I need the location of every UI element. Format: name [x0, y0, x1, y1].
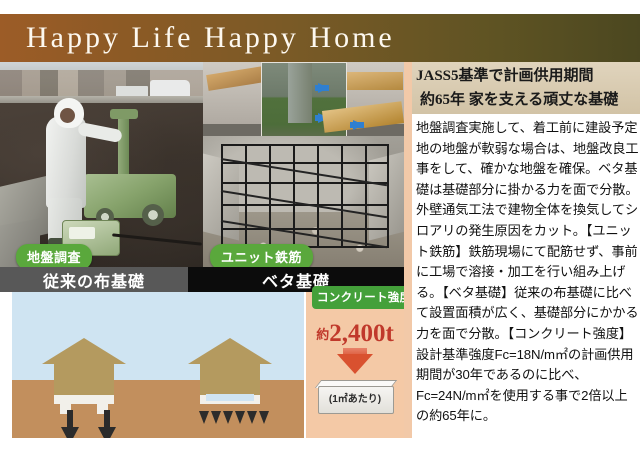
down-arrow-icon: [337, 354, 373, 374]
flyer-page: Happy Life Happy Home: [0, 0, 640, 452]
photo-row: 地盤調査 ユニット鉄筋: [0, 62, 404, 267]
concrete-strength-box: コンクリート強度 約2,400t (1㎡あたり): [306, 292, 404, 438]
value-prefix: 約: [316, 327, 329, 342]
concrete-slab-note: (1㎡あたり): [306, 390, 404, 405]
house-body: [54, 362, 114, 396]
ground-survey-photo: [0, 62, 203, 267]
pile-tip-icon: [199, 411, 209, 424]
rebar-cage: [221, 144, 389, 248]
mat-slab-void: [206, 394, 254, 401]
pile-stem: [104, 410, 110, 428]
visual-column: 地盤調査 ユニット鉄筋 従来の布基礎 ベタ基礎: [0, 62, 404, 438]
house-roof: [42, 338, 126, 364]
description-text: 地盤調査実施して、着工前に建設予定地の地盤が軟弱な場合は、地盤改良工事をして、確…: [416, 118, 640, 427]
pile-tip-icon: [235, 411, 245, 424]
house-roof: [188, 338, 272, 364]
description-heading: JASS5基準で計画供用期間 約65年 家を支える頑丈な基礎: [412, 62, 640, 114]
airflow-arrow-icon: [318, 83, 329, 93]
pile-tip-icon: [211, 411, 221, 424]
foundation-comparison-diagram: [12, 292, 304, 438]
house-body: [200, 362, 260, 396]
heading-line-2: 約65年 家を支える頑丈な基礎: [416, 88, 640, 112]
pile-tip-icon: [259, 411, 269, 424]
heading-line-1: JASS5基準で計画供用期間: [416, 64, 640, 88]
comparison-label-conventional: 従来の布基礎: [0, 267, 188, 292]
survey-rig-wheel: [142, 204, 164, 226]
unit-rebar-photo: [203, 62, 404, 267]
pile-tip-icon: [223, 411, 233, 424]
concrete-strength-label: コンクリート強度: [312, 286, 416, 309]
value-number: 2,400t: [329, 320, 394, 347]
pile-tip-icon: [247, 411, 257, 424]
worker-face: [60, 108, 75, 123]
pile-tip-icon: [98, 427, 116, 438]
concrete-strength-value: 約2,400t: [306, 320, 404, 348]
page-title: Happy Life Happy Home: [26, 16, 395, 60]
inset-wall: [288, 63, 312, 123]
pile-stem: [67, 410, 73, 428]
description-panel: JASS5基準で計画供用期間 約65年 家を支える頑丈な基礎 地盤調査実施して、…: [404, 62, 640, 438]
pile-tip-icon: [61, 427, 79, 438]
survey-rig-head: [110, 109, 138, 119]
description-body: 地盤調査実施して、着工前に建設予定地の地盤が軟弱な場合は、地盤改良工事をして、確…: [416, 118, 640, 427]
airflow-arrow-icon: [353, 120, 364, 130]
accent-strip: [404, 62, 412, 438]
